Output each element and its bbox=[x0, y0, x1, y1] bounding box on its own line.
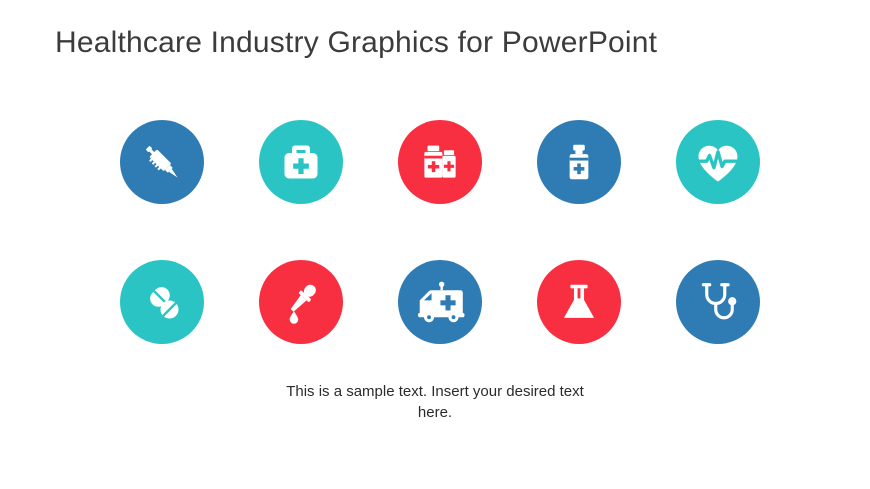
sample-caption-text: This is a sample text. Insert your desir… bbox=[285, 382, 585, 423]
slide-canvas: Healthcare Industry Graphics for PowerPo… bbox=[0, 0, 870, 489]
icon-grid bbox=[120, 120, 760, 344]
pills-icon bbox=[138, 278, 186, 326]
ambulance-icon bbox=[413, 275, 467, 329]
icon-badge-pills[interactable] bbox=[120, 260, 204, 344]
flask-icon bbox=[556, 279, 602, 325]
page-title: Healthcare Industry Graphics for PowerPo… bbox=[55, 26, 657, 60]
syringe-icon bbox=[137, 137, 187, 187]
icon-badge-syringe[interactable] bbox=[120, 120, 204, 204]
stethoscope-icon bbox=[694, 278, 742, 326]
icon-row bbox=[120, 260, 760, 344]
icon-badge-medical-bag[interactable] bbox=[259, 120, 343, 204]
icon-badge-dropper[interactable] bbox=[259, 260, 343, 344]
icon-badge-ambulance[interactable] bbox=[398, 260, 482, 344]
icon-badge-flask[interactable] bbox=[537, 260, 621, 344]
icon-badge-medicine-bottle[interactable] bbox=[537, 120, 621, 204]
icon-badge-medicine-bottles[interactable] bbox=[398, 120, 482, 204]
medicine-bottles-icon bbox=[415, 137, 465, 187]
medicine-bottle-icon bbox=[556, 139, 602, 185]
medical-bag-icon bbox=[277, 138, 325, 186]
dropper-icon bbox=[276, 277, 326, 327]
icon-row bbox=[120, 120, 760, 204]
icon-badge-heart-pulse[interactable] bbox=[676, 120, 760, 204]
heart-pulse-icon bbox=[692, 136, 744, 188]
icon-badge-stethoscope[interactable] bbox=[676, 260, 760, 344]
